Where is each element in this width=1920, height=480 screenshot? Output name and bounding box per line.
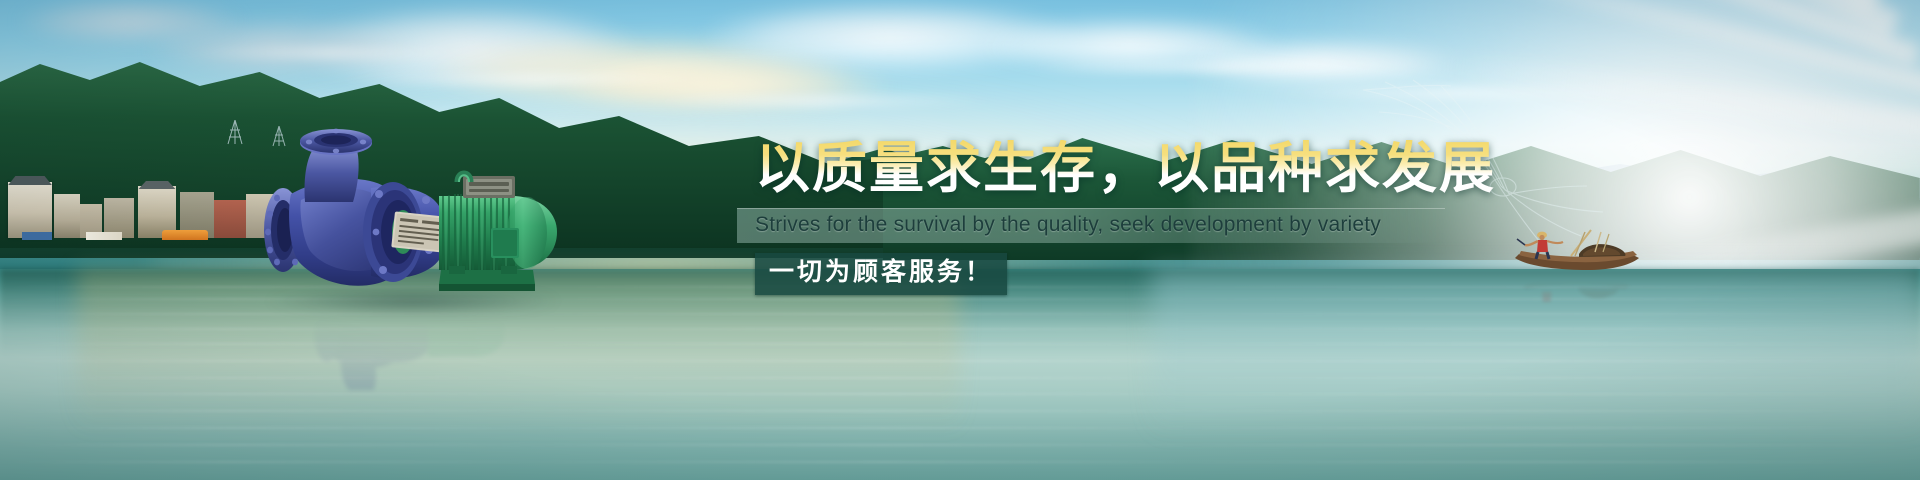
vignette-overlay bbox=[0, 0, 1920, 480]
hero-banner: 以质量求生存，以品种求发展 Strives for the survival b… bbox=[0, 0, 1920, 480]
